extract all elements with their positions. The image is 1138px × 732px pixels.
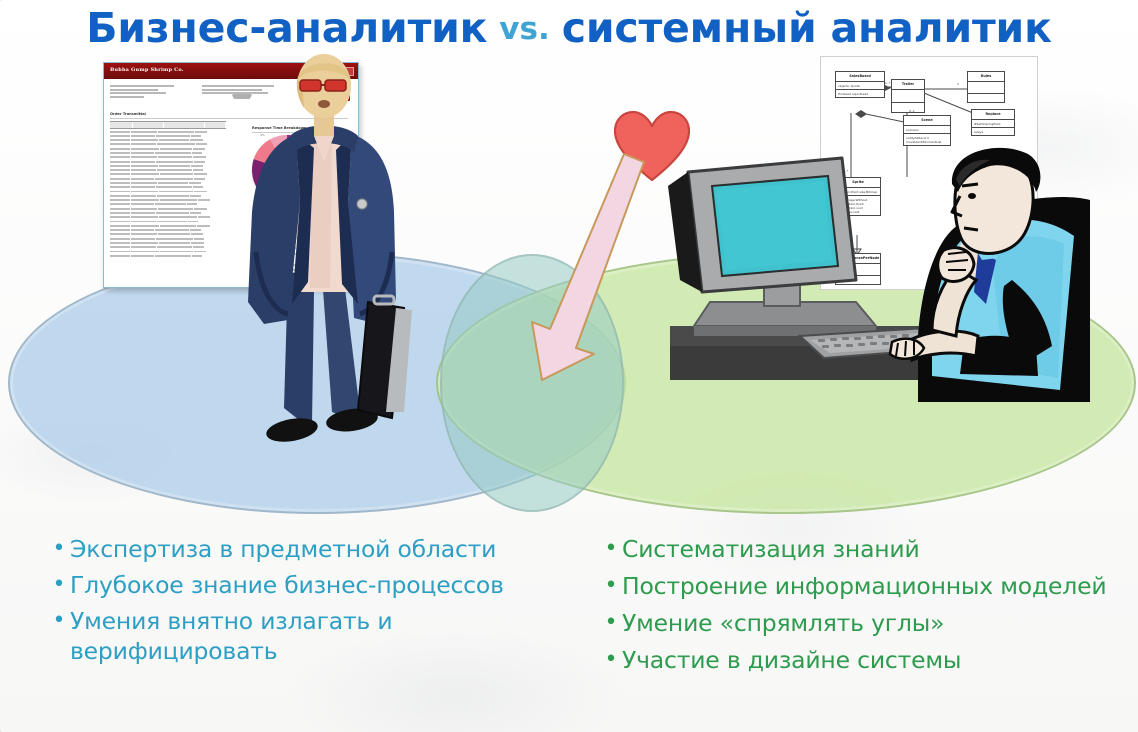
page-title: Бизнес-аналитикvs.системный аналитик — [0, 4, 1138, 52]
table-row — [110, 190, 226, 193]
uml-class-name: Scene — [904, 116, 950, 126]
title-right-part: системный аналитик — [562, 4, 1052, 52]
table-row — [110, 130, 226, 133]
list-item: • Умение «спрямлять углы» — [600, 608, 1130, 638]
uml-class-attributes: #SetCharingPoint — [972, 120, 1014, 128]
uml-multiplicity: 0..1 — [909, 109, 915, 113]
bullet-list-system-analyst: • Систематизация знаний • Построение инф… — [600, 534, 1130, 682]
list-item: • Участие в дизайне системы — [600, 645, 1130, 675]
table-row — [110, 241, 226, 244]
uml-multiplicity: 1 — [957, 82, 959, 86]
list-item: • Систематизация знаний — [600, 534, 1130, 564]
uml-class-operations: relays — [972, 128, 1014, 135]
table-row — [110, 220, 226, 223]
bullet-dot-icon: • — [48, 534, 70, 564]
uml-class-name: Trailer — [892, 80, 924, 90]
bullet-label: Глубокое знание бизнес-процессов — [70, 570, 504, 600]
table-row — [110, 246, 226, 249]
uml-class-box: Replace #SetCharingPoint relays — [971, 109, 1015, 136]
table-row — [110, 143, 226, 146]
table-row — [110, 164, 226, 167]
table-row — [110, 147, 226, 150]
table-row — [110, 228, 226, 231]
table-header-row — [110, 121, 226, 129]
table-row — [110, 160, 226, 163]
uml-class-name: Replace — [972, 110, 1014, 120]
list-item: • Глубокое знание бизнес-процессов — [48, 570, 548, 600]
table-row — [110, 211, 226, 214]
table-row — [110, 181, 226, 184]
table-row — [110, 139, 226, 142]
bullet-label: Умения внятно излагать и верифицировать — [70, 606, 548, 666]
uml-class-box: Trailer — [891, 79, 925, 113]
slide-canvas: Бизнес-аналитикvs.системный аналитик Bub… — [0, 0, 1138, 732]
uml-class-operations — [892, 103, 924, 115]
table-row — [110, 169, 226, 172]
bullet-list-business-analyst: • Экспертиза в предметной области • Глуб… — [48, 534, 548, 672]
table-row — [110, 233, 226, 236]
list-item: • Экспертиза в предметной области — [48, 534, 548, 564]
bullet-label: Систематизация знаний — [622, 534, 920, 564]
list-item: • Умения внятно излагать и верифицироват… — [48, 606, 548, 666]
bullet-dot-icon: • — [48, 570, 70, 600]
table-row — [110, 203, 226, 206]
table-row — [110, 254, 226, 257]
uml-class-attributes: scenario — [904, 126, 950, 134]
table-row — [110, 177, 226, 180]
bullet-dot-icon: • — [600, 534, 622, 564]
bullet-dot-icon: • — [600, 571, 622, 601]
bullet-label: Экспертиза в предметной области — [70, 534, 496, 564]
arrow-down-left-icon — [498, 148, 668, 386]
system-analyst-scene — [660, 140, 1090, 402]
table-row — [110, 134, 226, 137]
uml-class-attributes — [892, 90, 924, 103]
uml-class-attributes — [968, 82, 1004, 94]
uml-class-operations — [968, 94, 1004, 105]
report-title: Bubba Gump Shrimp Co. — [110, 67, 184, 73]
title-left-part: Бизнес-аналитик — [86, 4, 487, 52]
table-row — [110, 156, 226, 159]
table-row — [110, 199, 226, 202]
uml-class-box: SalesBoard objects: Quote findLead repor… — [835, 71, 885, 98]
uml-class-attributes: objects: Quote — [836, 82, 884, 90]
table-row — [110, 237, 226, 240]
list-item: • Построение информационных моделей — [600, 571, 1130, 601]
table-row — [110, 224, 226, 227]
report-order-table — [110, 121, 226, 279]
uml-class-box: Rules — [967, 71, 1005, 103]
bullet-label: Умение «спрямлять углы» — [622, 608, 944, 638]
bullet-label: Участие в дизайне системы — [622, 645, 961, 675]
bullet-label: Построение информационных моделей — [622, 571, 1106, 601]
title-separator-vs: vs. — [499, 11, 549, 47]
bullet-dot-icon: • — [600, 645, 622, 675]
table-row — [110, 250, 226, 253]
table-row — [110, 173, 226, 176]
report-section-order-label: Order Transmittal — [110, 112, 146, 116]
uml-multiplicity: 1..* — [885, 81, 890, 85]
bullet-dot-icon: • — [600, 608, 622, 638]
business-analyst-figure — [226, 52, 416, 452]
uml-class-name: SalesBoard — [836, 72, 884, 82]
table-row — [110, 207, 226, 210]
uml-class-operations: findLead reportLead — [836, 90, 884, 97]
bullet-dot-icon: • — [48, 606, 70, 636]
table-row — [110, 186, 226, 189]
table-row — [110, 194, 226, 197]
table-row — [110, 216, 226, 219]
table-row — [110, 151, 226, 154]
uml-class-name: Rules — [968, 72, 1004, 82]
